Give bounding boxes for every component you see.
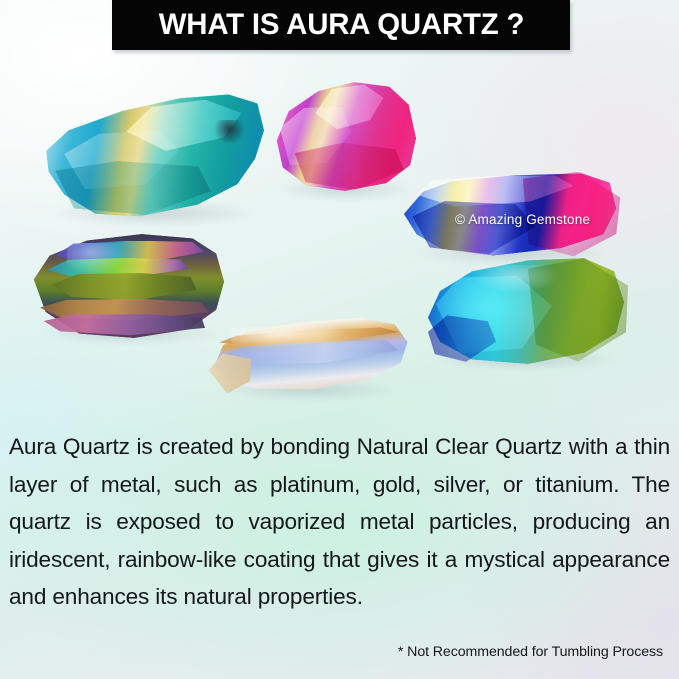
specimen-facet (55, 161, 210, 215)
watermark-text: © Amazing Gemstone (455, 212, 590, 227)
specimen-highlight (472, 265, 560, 294)
title-banner: WHAT IS AURA QUARTZ ? (112, 0, 570, 50)
specimen-facet (295, 143, 405, 190)
specimen-titanium-rainbow-aura-quartz (28, 232, 224, 340)
specimen-facet (208, 352, 253, 395)
footnote-text: * Not Recommended for Tumbling Process (398, 644, 663, 660)
specimen-inclusion (215, 120, 251, 143)
specimen-blue-green-aura-quartz (424, 256, 624, 366)
specimen-angel-aura-quartz (210, 307, 410, 401)
specimen-photo-collage: © Amazing Gemstone (0, 50, 679, 425)
infographic-page: WHAT IS AURA QUARTZ ? (0, 0, 679, 679)
description-paragraph: Aura Quartz is created by bonding Natura… (9, 428, 670, 616)
specimen-teal-aura-quartz (42, 92, 264, 220)
specimen-highlight (67, 243, 126, 275)
specimen-pink-aura-quartz (268, 80, 416, 192)
description-block: Aura Quartz is created by bonding Natura… (9, 428, 670, 616)
page-title: WHAT IS AURA QUARTZ ? (158, 8, 524, 42)
specimen-rainbow-band (44, 314, 209, 336)
